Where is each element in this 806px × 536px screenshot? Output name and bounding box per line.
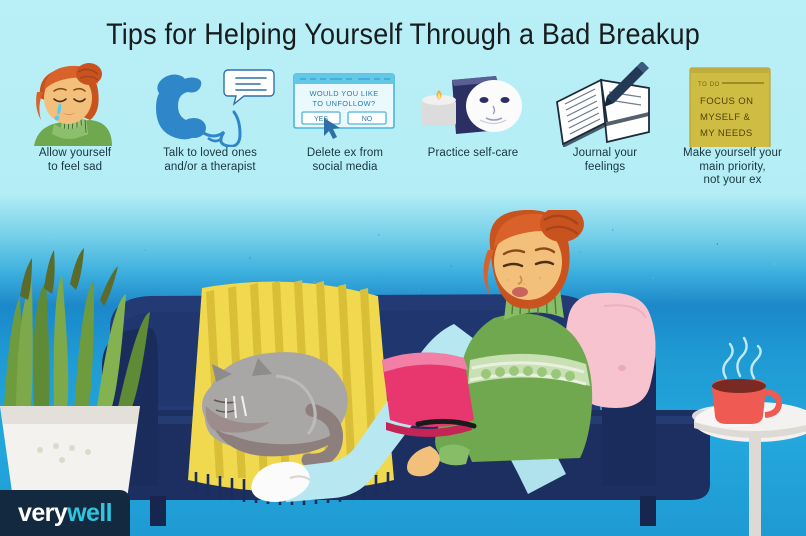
steam	[723, 338, 760, 378]
couch-leg-left	[150, 496, 166, 526]
tip-caption-line2: to feel sad	[10, 161, 140, 175]
tips-icon-row: Allow yourself to feel sad	[0, 62, 806, 192]
unfollow-dialog-icon: WOULD YOU LIKE TO UNFOLLOW? YES NO	[280, 62, 410, 147]
tip-caption-line2: main priority,	[660, 161, 805, 175]
tip-caption: Allow yourself to feel sad	[10, 147, 140, 174]
sticky-note-icon: TO DO FOCUS ON MYSELF & MY NEEDS	[660, 62, 805, 147]
logo-part-well: well	[67, 499, 112, 527]
tip-caption-line3: not your ex	[660, 174, 805, 188]
sweater-cuff	[438, 444, 470, 465]
sticky-note-line2: MYSELF &	[700, 112, 750, 123]
tip-caption: Make yourself your main priority, not yo…	[660, 147, 805, 188]
tip-caption: Talk to loved ones and/or a therapist	[140, 147, 280, 174]
tip-caption-line1: Allow yourself	[10, 147, 140, 161]
sticky-note-line3: MY NEEDS	[700, 128, 753, 139]
infographic-canvas: Tips for Helping Yourself Through a Bad …	[0, 0, 806, 536]
verywell-logo[interactable]: verywell	[0, 490, 130, 536]
mouth	[512, 287, 528, 297]
tip-item-allow-yourself-to-feel-sad: Allow yourself to feel sad	[10, 62, 140, 174]
tip-item-journal-your-feelings: Journal your feelings	[545, 62, 665, 174]
tip-item-practice-self-care: Practice self-care	[408, 62, 538, 161]
tip-caption-line1: Journal your	[545, 147, 665, 161]
tip-caption: Practice self-care	[408, 147, 538, 161]
tip-item-talk-to-loved-ones: Talk to loved ones and/or a therapist	[140, 62, 280, 174]
couch-leg-right	[640, 496, 656, 526]
tip-caption-line2: feelings	[545, 161, 665, 175]
tip-caption-line2: and/or a therapist	[140, 161, 280, 175]
page-title: Tips for Helping Yourself Through a Bad …	[40, 18, 765, 52]
tip-item-delete-ex-from-social-media: WOULD YOU LIKE TO UNFOLLOW? YES NO Delet…	[280, 62, 410, 174]
sticky-note-line1: FOCUS ON	[700, 96, 753, 107]
dialog-no-button-label: NO	[362, 116, 373, 123]
telephone-icon	[140, 62, 280, 147]
dialog-prompt-line2: TO UNFOLLOW?	[313, 99, 376, 108]
tip-caption: Journal your feelings	[545, 147, 665, 174]
self-care-icon	[408, 62, 538, 147]
snake-plant	[0, 248, 150, 506]
tip-item-make-yourself-priority: TO DO FOCUS ON MYSELF & MY NEEDS Make yo…	[660, 62, 805, 188]
tip-caption-line1: Talk to loved ones	[140, 147, 280, 161]
journal-pen-icon	[545, 62, 665, 147]
tip-caption-line2: social media	[280, 161, 410, 175]
pillow-texture	[618, 365, 626, 371]
logo-part-very: very	[18, 499, 67, 527]
tip-caption: Delete ex from social media	[280, 147, 410, 174]
sticky-note-header: TO DO	[698, 82, 720, 88]
main-illustration	[0, 210, 806, 536]
crying-woman-icon	[10, 62, 140, 147]
dialog-prompt-line1: WOULD YOU LIKE	[309, 89, 378, 98]
tip-caption-line1: Make yourself your	[660, 147, 805, 161]
tip-caption-line1: Practice self-care	[408, 147, 538, 161]
logo-text: verywell	[18, 499, 112, 528]
tip-caption-line1: Delete ex from	[280, 147, 410, 161]
